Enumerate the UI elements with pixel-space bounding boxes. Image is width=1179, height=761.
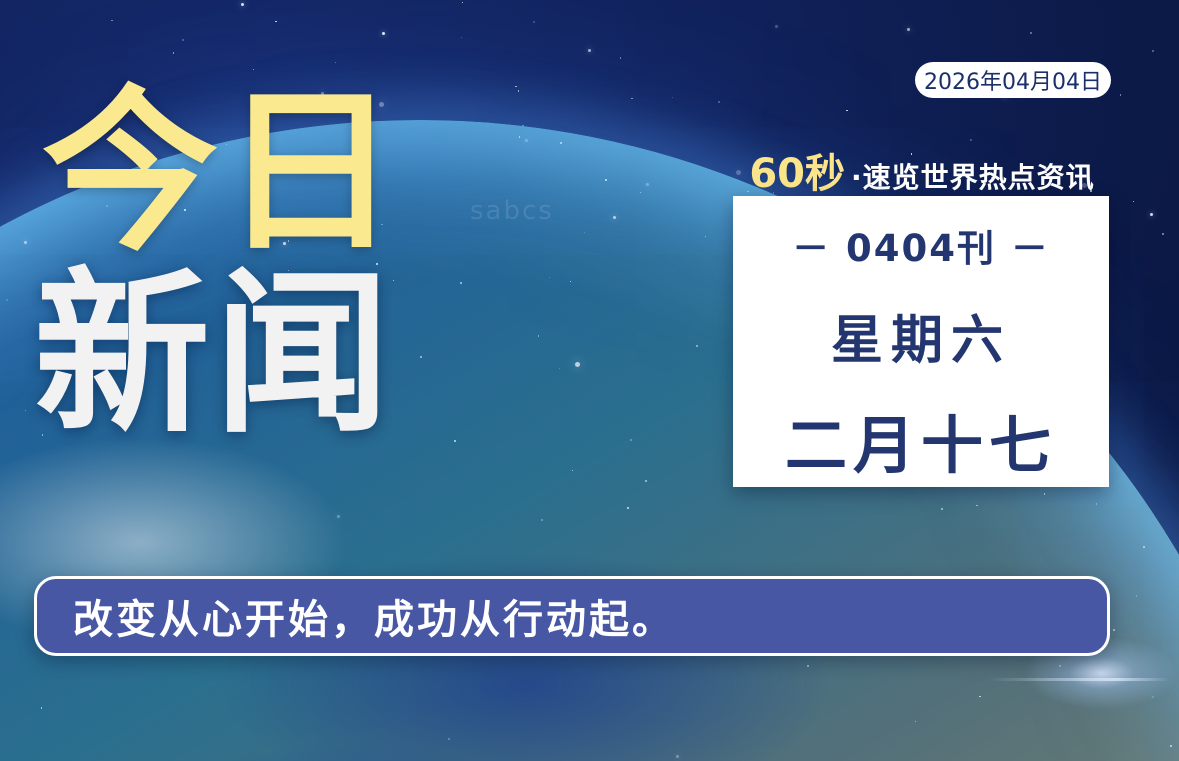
quote-banner: 改变从心开始，成功从行动起。 [34,576,1110,656]
date-badge: 2026年04月04日 [915,62,1111,98]
quote-text: 改变从心开始，成功从行动起。 [73,587,675,645]
tagline: 60秒 ·速览世界热点资讯 [733,141,1111,199]
lunar-date-label: 二月十七 [785,395,1057,485]
info-card: － 0404刊 － 星期六 二月十七 [733,196,1109,487]
tagline-rest: ·速览世界热点资讯 [851,156,1095,196]
tagline-highlight: 60秒 [749,141,845,199]
title-line-xinwen: 新闻 [34,268,402,442]
page-title: 今日 新闻 [42,86,402,442]
date-badge-label: 2026年04月04日 [924,64,1102,96]
news-poster: sabcs 今日 新闻 2026年04月04日 60秒 ·速览世界热点资讯 － … [0,0,1179,761]
weekday-label: 星期六 [831,298,1011,373]
issue-number: － 0404刊 － [792,218,1050,272]
title-line-jinri: 今日 [42,86,402,260]
